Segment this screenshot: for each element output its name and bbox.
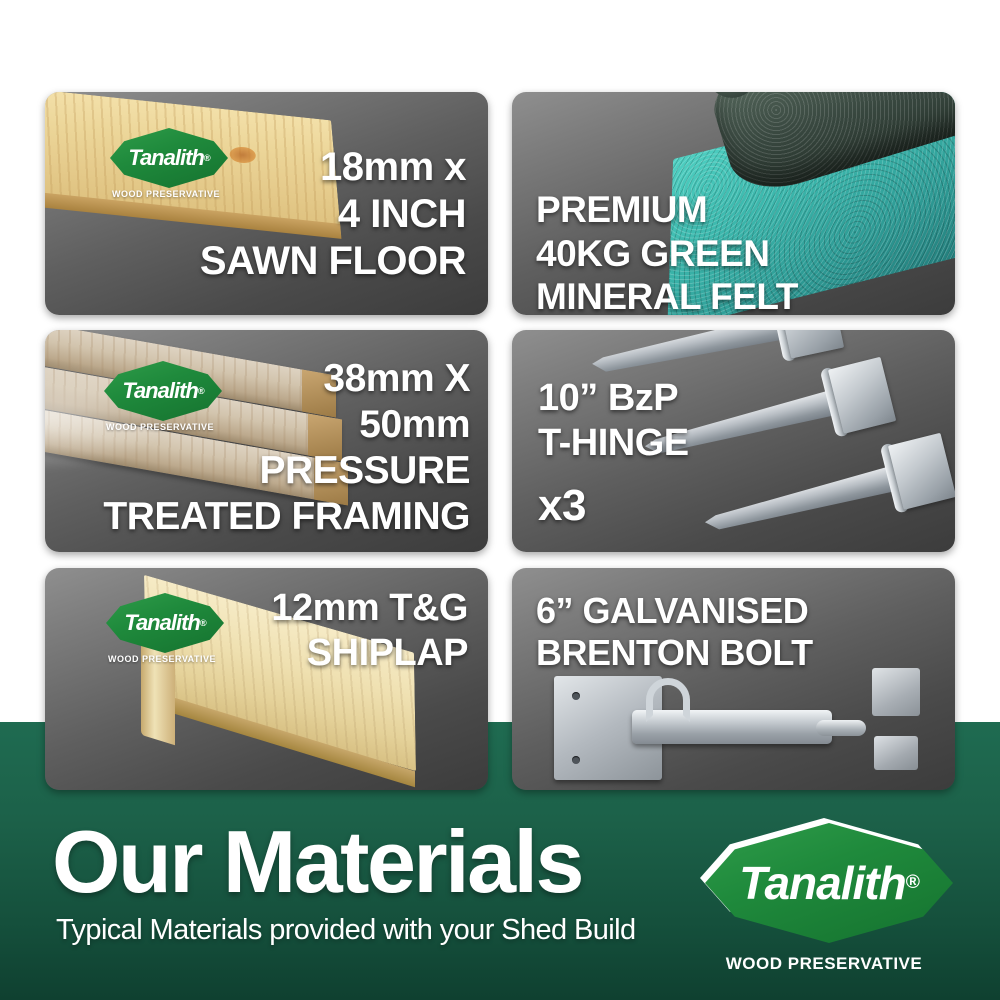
label-line-quantity: x3 — [538, 480, 689, 532]
material-card-treated-framing[interactable]: Tanalith® WOOD PRESERVATIVE 38mm X 50mm … — [45, 330, 488, 552]
label-line: MINERAL FELT — [536, 275, 798, 315]
label-line: PREMIUM — [536, 188, 798, 232]
tanalith-tagline: WOOD PRESERVATIVE — [700, 954, 948, 974]
banner-content: Our Materials Typical Materials provided… — [0, 722, 1000, 1000]
card-label-shiplap: 12mm T&G SHIPLAP — [271, 586, 468, 676]
card-label-t-hinge: 10” BzP T-HINGE x3 — [538, 376, 689, 532]
label-line: BRENTON BOLT — [536, 632, 813, 674]
card-label-brenton-bolt: 6” GALVANISED BRENTON BOLT — [536, 590, 813, 675]
registered-mark-icon: ® — [200, 618, 206, 628]
label-line: T-HINGE — [538, 421, 689, 466]
card-label-mineral-felt: PREMIUM 40KG GREEN MINERAL FELT — [536, 188, 798, 315]
label-line: 6” GALVANISED — [536, 590, 813, 632]
tanalith-brand-text: Tanalith — [124, 610, 200, 636]
label-line: SHIPLAP — [271, 631, 468, 676]
registered-mark-icon: ® — [906, 872, 919, 894]
page-subtitle: Typical Materials provided with your She… — [56, 914, 635, 947]
label-line: TREATED FRAMING — [103, 494, 470, 540]
material-card-t-hinge[interactable]: 10” BzP T-HINGE x3 — [512, 330, 955, 552]
label-line: 50mm — [103, 402, 470, 448]
label-line: 38mm X — [103, 356, 470, 402]
tanalith-brand-text: Tanalith — [739, 856, 906, 910]
material-card-mineral-felt[interactable]: PREMIUM 40KG GREEN MINERAL FELT — [512, 92, 955, 315]
tanalith-brand-text: Tanalith — [128, 145, 204, 171]
label-line: 40KG GREEN — [536, 232, 798, 276]
label-line: 4 INCH — [200, 191, 466, 238]
tanalith-logo-main: Tanalith® WOOD PRESERVATIVE — [700, 818, 948, 974]
label-line: 18mm x — [200, 144, 466, 191]
label-line: SAWN FLOOR — [200, 238, 466, 285]
label-line: PRESSURE — [103, 448, 470, 494]
card-label-treated-framing: 38mm X 50mm PRESSURE TREATED FRAMING — [103, 356, 470, 540]
page-title: Our Materials — [52, 818, 582, 906]
material-card-sawn-floor[interactable]: Tanalith® WOOD PRESERVATIVE 18mm x 4 INC… — [45, 92, 488, 315]
tanalith-tagline: WOOD PRESERVATIVE — [103, 654, 221, 664]
label-line: 10” BzP — [538, 376, 689, 421]
tanalith-logo-badge: Tanalith® WOOD PRESERVATIVE — [103, 590, 221, 664]
label-line: 12mm T&G — [271, 586, 468, 631]
card-label-sawn-floor: 18mm x 4 INCH SAWN FLOOR — [200, 144, 466, 286]
